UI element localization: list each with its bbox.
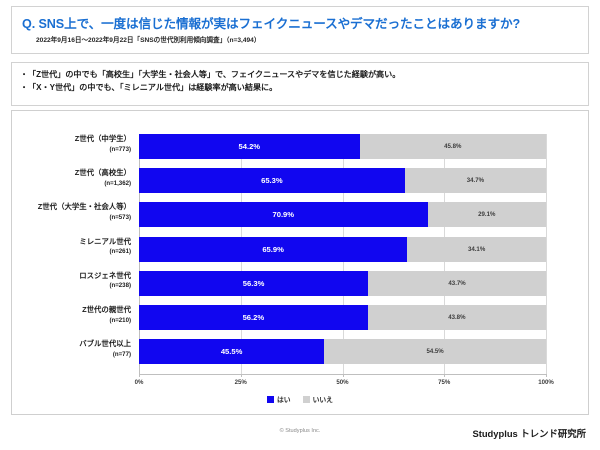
legend-swatch-icon	[303, 396, 310, 403]
page-title: Q. SNS上で、一度は信じた情報が実はフェイクニュースやデマだったことはありま…	[22, 13, 520, 32]
bar-value-no: 54.5%	[426, 348, 443, 355]
category-sample-size: (n=773)	[19, 146, 131, 153]
category-sample-size: (n=210)	[19, 317, 131, 324]
category-label: バブル世代以上(n=77)	[19, 340, 137, 358]
bar-rows-group: 54.2%45.8%65.3%34.7%70.9%29.1%65.9%34.1%…	[139, 134, 546, 374]
bar-value-no: 43.7%	[448, 280, 465, 287]
bar-row[interactable]: 70.9%29.1%	[139, 202, 546, 227]
category-label: ロスジェネ世代(n=238)	[19, 272, 137, 290]
category-sample-size: (n=261)	[19, 248, 131, 255]
bar-segment-yes[interactable]: 65.9%	[139, 237, 407, 262]
x-axis-tick-label: 100%	[538, 379, 554, 386]
slide-footer: © Studyplus Inc. Studyplus トレンド研究所	[0, 428, 600, 444]
category-name: Z世代（高校生）	[19, 169, 131, 178]
x-axis-tick	[241, 374, 242, 377]
category-name: ロスジェネ世代	[19, 272, 131, 281]
bar-value-yes: 65.9%	[262, 245, 284, 254]
bar-segment-no[interactable]: 45.8%	[360, 134, 546, 159]
findings-panel: ・ 「Z世代」の中でも「高校生」「大学生・社会人等」で、フェイクニュースやデマを…	[11, 62, 589, 106]
bar-row[interactable]: 65.9%34.1%	[139, 237, 546, 262]
bar-segment-no[interactable]: 54.5%	[324, 339, 546, 364]
bar-segment-yes[interactable]: 56.2%	[139, 305, 368, 330]
x-axis	[139, 374, 546, 375]
question-header: Q. SNS上で、一度は信じた情報が実はフェイクニュースやデマだったことはありま…	[11, 6, 589, 54]
bar-value-yes: 56.2%	[243, 313, 265, 322]
bar-segment-yes[interactable]: 65.3%	[139, 168, 405, 193]
bar-value-yes: 45.5%	[221, 347, 243, 356]
x-axis-tick	[139, 374, 140, 377]
brand-name: Studyplus トレンド研究所	[472, 426, 586, 440]
bar-segment-yes[interactable]: 54.2%	[139, 134, 360, 159]
x-axis-tick	[343, 374, 344, 377]
x-axis-tick-label: 75%	[438, 379, 450, 386]
bar-segment-no[interactable]: 43.8%	[368, 305, 546, 330]
category-name: Z世代（中学生）	[19, 135, 131, 144]
x-axis-tick-label: 50%	[336, 379, 348, 386]
bar-segment-yes[interactable]: 56.3%	[139, 271, 368, 296]
category-name: Z世代（大学生・社会人等）	[19, 203, 131, 212]
legend-item-no[interactable]: いいえ	[303, 394, 333, 404]
bar-value-yes: 56.3%	[243, 279, 265, 288]
bar-segment-no[interactable]: 29.1%	[428, 202, 546, 227]
gridline-100pct	[546, 134, 547, 374]
category-label: Z世代の親世代(n=210)	[19, 306, 137, 324]
bar-value-yes: 54.2%	[239, 142, 261, 151]
category-name: バブル世代以上	[19, 340, 131, 349]
category-sample-size: (n=573)	[19, 214, 131, 221]
legend-item-yes[interactable]: はい	[267, 394, 291, 404]
category-sample-size: (n=238)	[19, 282, 131, 289]
chart-legend: はいいいえ	[12, 394, 588, 404]
finding-text-1: 「Z世代」の中でも「高校生」「大学生・社会人等」で、フェイクニュースやデマを信じ…	[28, 69, 400, 82]
plot-area: 54.2%45.8%65.3%34.7%70.9%29.1%65.9%34.1%…	[139, 134, 546, 374]
category-label: ミレニアル世代(n=261)	[19, 238, 137, 256]
slide-canvas: Q. SNS上で、一度は信じた情報が実はフェイクニュースやデマだったことはありま…	[0, 0, 600, 450]
bar-row[interactable]: 65.3%34.7%	[139, 168, 546, 193]
x-axis-tick	[444, 374, 445, 377]
bar-value-no: 43.8%	[448, 314, 465, 321]
bar-value-no: 34.7%	[467, 177, 484, 184]
category-label: Z世代（大学生・社会人等）(n=573)	[19, 203, 137, 221]
legend-label: はい	[277, 394, 291, 404]
legend-label: いいえ	[313, 394, 333, 404]
bar-value-no: 29.1%	[478, 211, 495, 218]
bar-segment-no[interactable]: 43.7%	[368, 271, 546, 296]
category-label: Z世代（中学生）(n=773)	[19, 135, 137, 153]
category-sample-size: (n=1,362)	[19, 180, 131, 187]
category-name: ミレニアル世代	[19, 238, 131, 247]
bar-row[interactable]: 54.2%45.8%	[139, 134, 546, 159]
bar-segment-no[interactable]: 34.7%	[405, 168, 546, 193]
finding-item-2: ・ 「X・Y世代」の中でも、「ミレニアル世代」は経験率が高い結果に。	[20, 82, 580, 95]
bar-value-yes: 70.9%	[273, 210, 295, 219]
bullet-marker-icon: ・	[20, 82, 28, 95]
bar-segment-no[interactable]: 34.1%	[407, 237, 546, 262]
bar-value-no: 45.8%	[444, 143, 461, 150]
x-axis-tick-label: 0%	[135, 379, 144, 386]
bar-value-no: 34.1%	[468, 246, 485, 253]
x-axis-tick-label: 25%	[235, 379, 247, 386]
bar-row[interactable]: 45.5%54.5%	[139, 339, 546, 364]
finding-item-1: ・ 「Z世代」の中でも「高校生」「大学生・社会人等」で、フェイクニュースやデマを…	[20, 69, 580, 82]
bar-value-yes: 65.3%	[261, 176, 283, 185]
bar-row[interactable]: 56.2%43.8%	[139, 305, 546, 330]
x-axis-tick	[546, 374, 547, 377]
bar-segment-yes[interactable]: 70.9%	[139, 202, 428, 227]
bar-segment-yes[interactable]: 45.5%	[139, 339, 324, 364]
category-label: Z世代（高校生）(n=1,362)	[19, 169, 137, 187]
category-sample-size: (n=77)	[19, 351, 131, 358]
category-name: Z世代の親世代	[19, 306, 131, 315]
bullet-marker-icon: ・	[20, 69, 28, 82]
bar-row[interactable]: 56.3%43.7%	[139, 271, 546, 296]
survey-note: 2022年9月16日～2022年9月22日「SNSの世代別利用傾向調査」（n=3…	[36, 34, 260, 44]
chart-panel: 54.2%45.8%65.3%34.7%70.9%29.1%65.9%34.1%…	[11, 110, 589, 415]
legend-swatch-icon	[267, 396, 274, 403]
finding-text-2: 「X・Y世代」の中でも、「ミレニアル世代」は経験率が高い結果に。	[28, 82, 277, 95]
